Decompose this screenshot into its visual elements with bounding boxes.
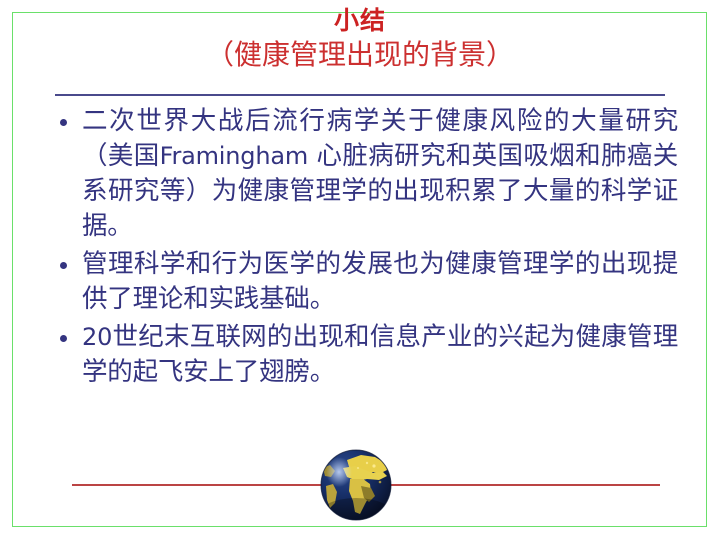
list-item: 管理科学和行为医学的发展也为健康管理学的出现提供了理论和实践基础。 — [48, 247, 678, 317]
list-item: 20世纪末互联网的出现和信息产业的兴起为健康管理学的起飞安上了翅膀。 — [48, 320, 678, 390]
bullet-text-segment: 管理科学和行为医学的发展也为健康管理学的出现提供了理论和实践基础。 — [82, 249, 678, 314]
slide-canvas: 小结 （健康管理出现的背景） 二次世界大战后流行病学关于健康风险的大量研究（美国… — [0, 0, 720, 540]
bullet-list: 二次世界大战后流行病学关于健康风险的大量研究（美国Framingham 心脏病研… — [48, 104, 678, 393]
bullet-text-segment-latin: 20 — [82, 323, 112, 351]
title-divider-rule — [55, 94, 665, 96]
page-subtitle: （健康管理出现的背景） — [0, 38, 720, 72]
globe-icon — [317, 446, 395, 524]
page-title: 小结 — [0, 6, 720, 36]
bullet-text-segment: 世纪末互联网的出现和信息产业的兴起为健康管理学的起飞安上了翅膀。 — [82, 322, 678, 387]
title-block: 小结 （健康管理出现的背景） — [0, 6, 720, 72]
list-item: 二次世界大战后流行病学关于健康风险的大量研究（美国Framingham 心脏病研… — [48, 104, 678, 244]
bullet-text-segment-latin: Framingham — [160, 142, 308, 170]
